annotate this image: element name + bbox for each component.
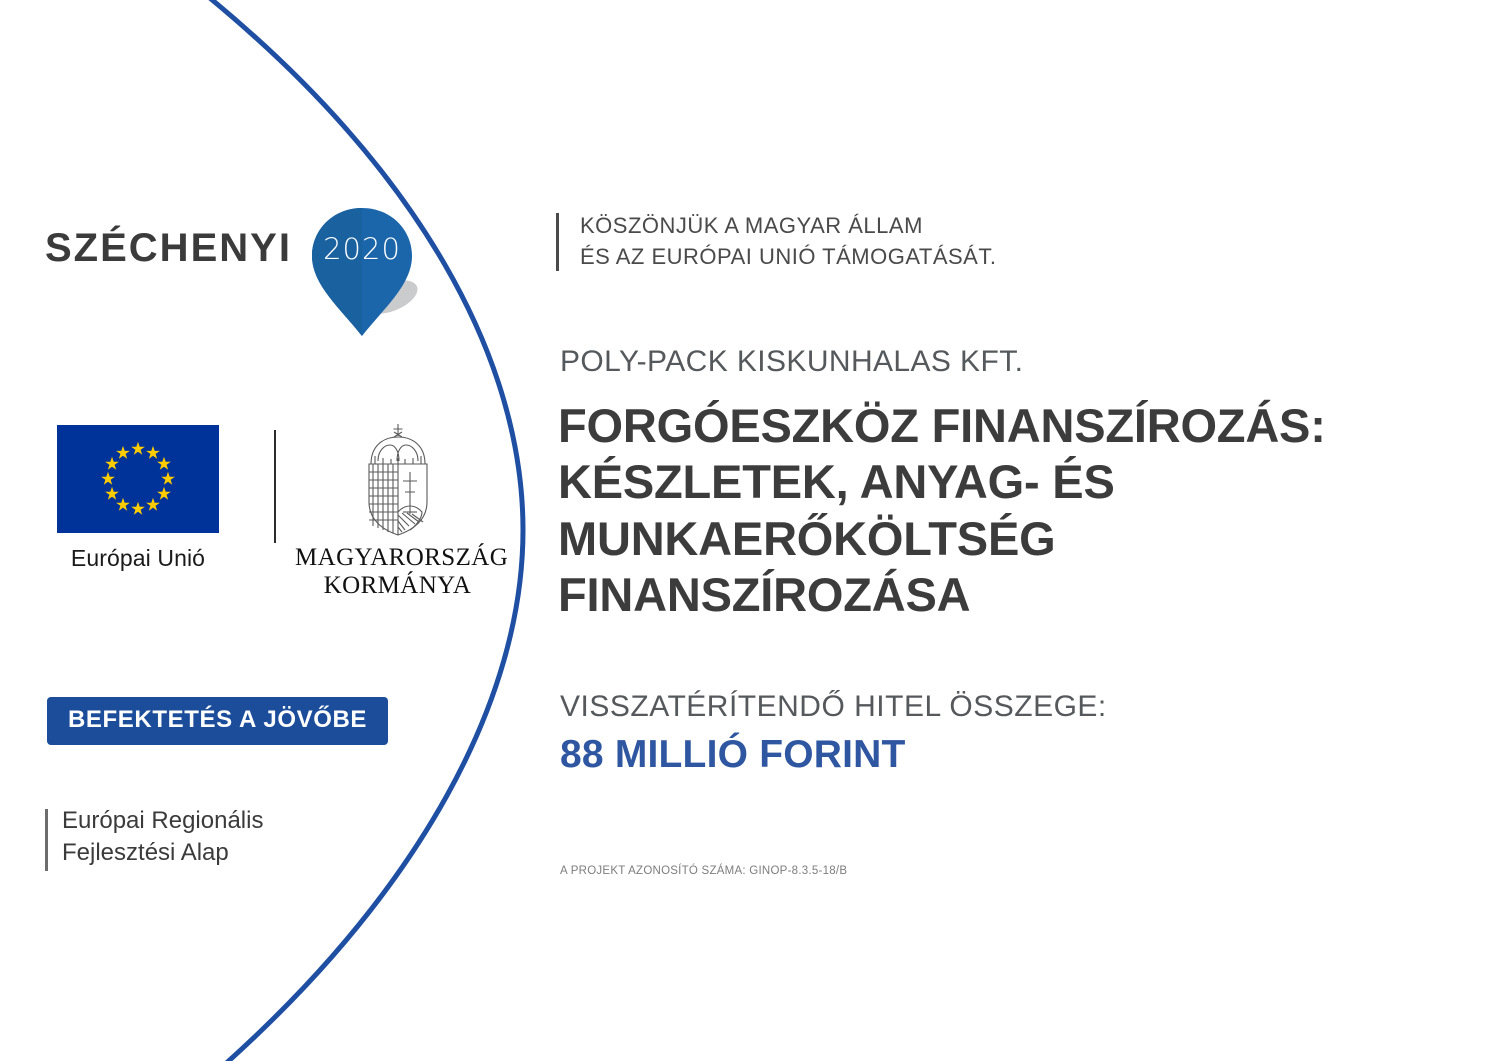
project-title-line4: FINANSZÍROZÁSA (558, 567, 1478, 623)
right-content-column: KÖSZÖNJÜK A MAGYAR ÁLLAM ÉS AZ EURÓPAI U… (556, 0, 1486, 1061)
hungary-emblem: MAGYARORSZÁG KORMÁNYA (295, 420, 500, 600)
project-identifier: A PROJEKT AZONOSÍTÓ SZÁMA: GINOP-8.3.5-1… (560, 865, 847, 877)
left-logo-column: SZÉCHENYI 2020 (0, 0, 520, 1061)
eu-flag-icon (57, 425, 219, 533)
hungary-emblem-caption-line2: KORMÁNYA (295, 572, 500, 600)
eu-emblem-caption: Európai Unió (57, 545, 219, 572)
eu-emblem: Európai Unió (57, 425, 232, 572)
thank-you-line2: ÉS AZ EURÓPAI UNIÓ TÁMOGATÁSÁT. (580, 241, 996, 272)
erdf-fund-line2: Fejlesztési Alap (62, 837, 263, 869)
szechenyi-2020-logo: SZÉCHENYI 2020 (45, 205, 445, 340)
thank-you-line1: KÖSZÖNJÜK A MAGYAR ÁLLAM (580, 210, 996, 241)
loan-amount-label: VISSZATÉRÍTENDŐ HITEL ÖSSZEGE: (560, 690, 1107, 724)
erdf-fund-line1: Európai Regionális (62, 805, 263, 837)
erdf-fund-label: Európai Regionális Fejlesztési Alap (45, 805, 263, 869)
szechenyi-2020-funding-poster: SZÉCHENYI 2020 (0, 0, 1500, 1061)
company-name: POLY-PACK KISKUNHALAS KFT. (560, 345, 1023, 379)
thank-you-block: KÖSZÖNJÜK A MAGYAR ÁLLAM ÉS AZ EURÓPAI U… (556, 210, 996, 272)
szechenyi-wordmark: SZÉCHENYI (45, 228, 292, 268)
hungarian-coat-of-arms-icon (347, 420, 449, 538)
project-title-line1: FORGÓESZKÖZ FINANSZÍROZÁS: (558, 398, 1478, 454)
pin-year-label: 2020 (315, 232, 409, 266)
project-title-line2: KÉSZLETEK, ANYAG- ÉS (558, 454, 1478, 510)
project-title: FORGÓESZKÖZ FINANSZÍROZÁS: KÉSZLETEK, AN… (558, 398, 1478, 624)
loan-amount-value: 88 MILLIÓ FORINT (560, 733, 906, 777)
investing-in-future-badge: BEFEKTETÉS A JÖVŐBE (47, 697, 388, 745)
hungary-emblem-caption-line1: MAGYARORSZÁG (295, 544, 500, 572)
emblem-row: Európai Unió (45, 420, 475, 610)
emblem-divider (274, 430, 276, 543)
map-pin-icon: 2020 (307, 205, 417, 340)
hungary-emblem-caption: MAGYARORSZÁG KORMÁNYA (295, 544, 500, 600)
project-title-line3: MUNKAERŐKÖLTSÉG (558, 511, 1478, 567)
